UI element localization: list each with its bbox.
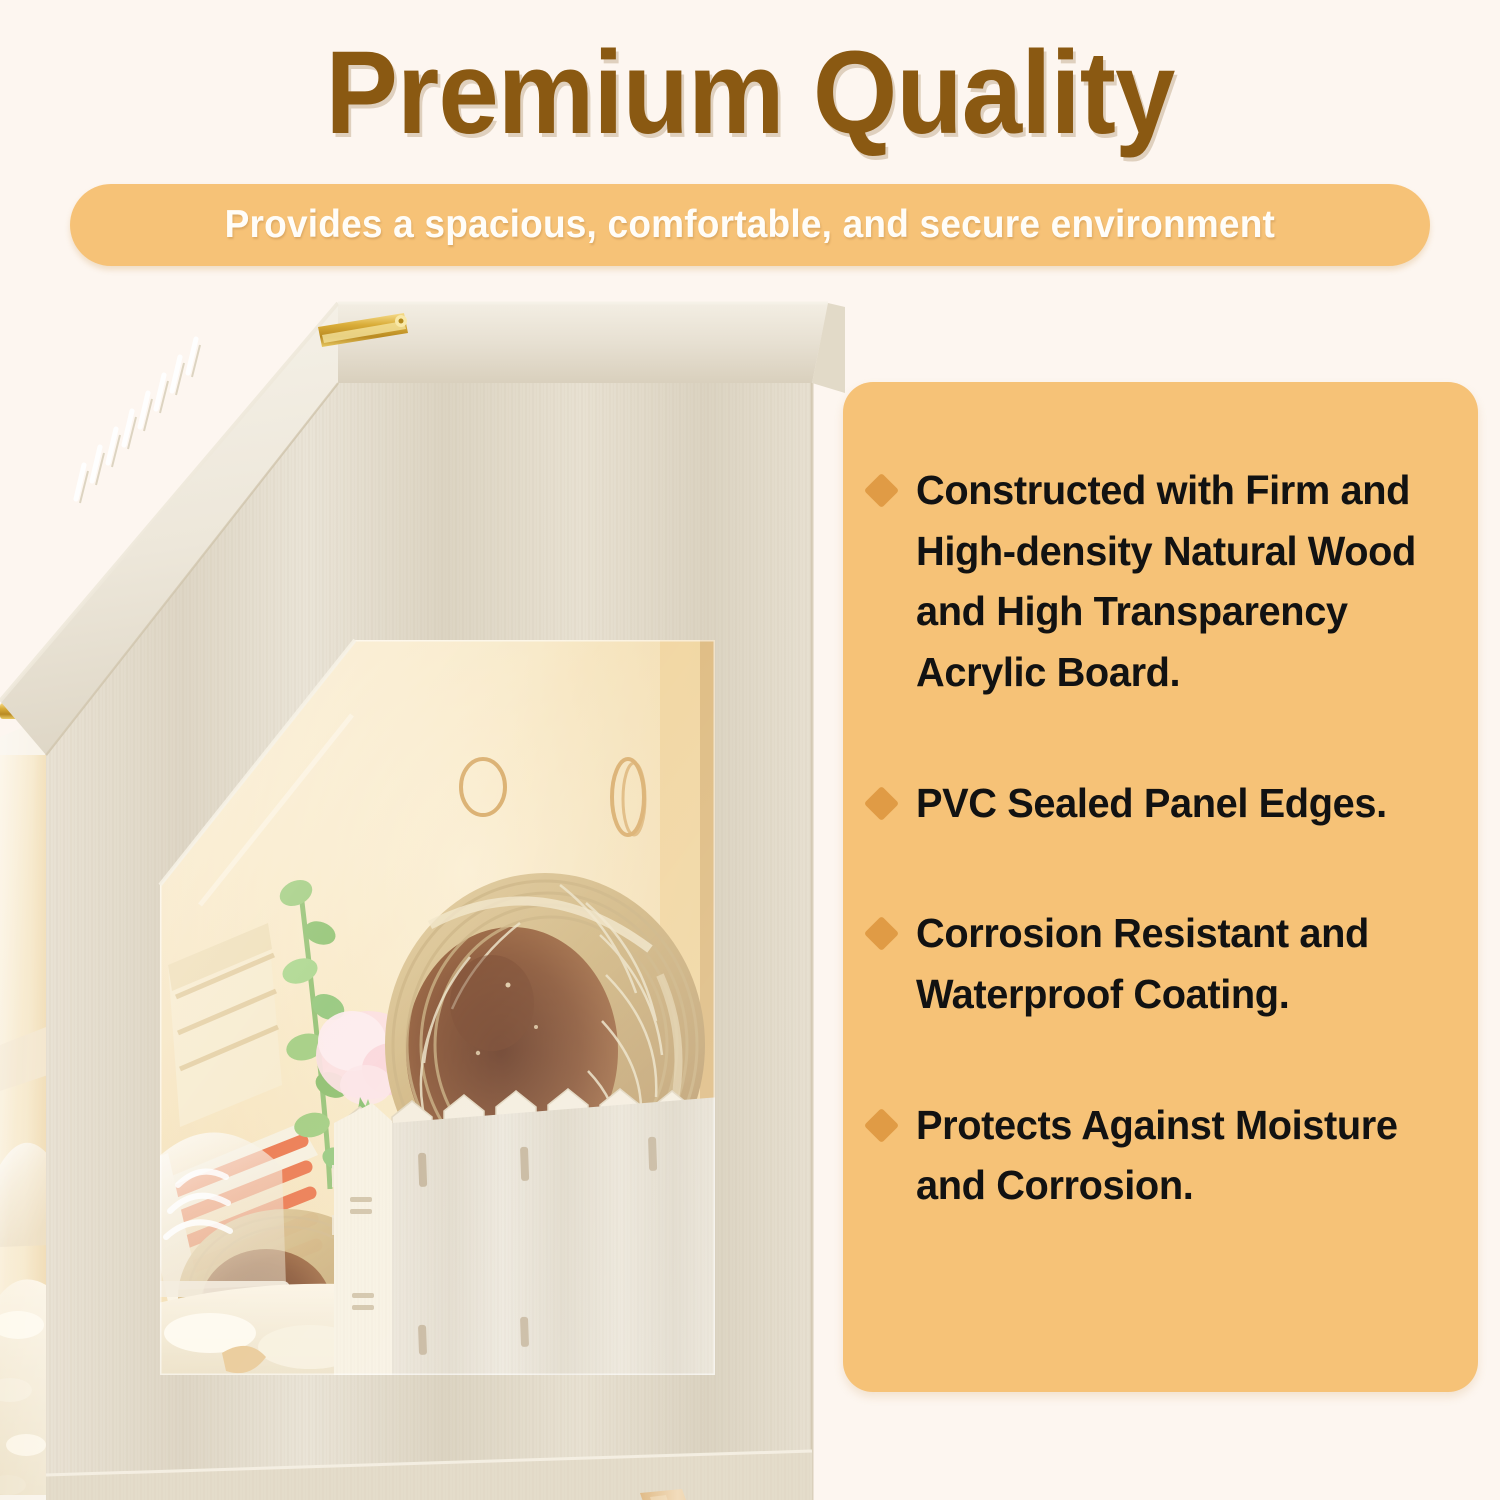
diamond-bullet-icon [864,786,899,821]
diamond-bullet-icon [864,916,899,951]
feature-item: Corrosion Resistant and Waterproof Coati… [869,903,1464,1024]
acrylic-side-panel [0,703,52,1500]
feature-text: Corrosion Resistant and Waterproof Coati… [916,903,1445,1024]
feature-item: PVC Sealed Panel Edges. [869,773,1464,834]
feature-item: Constructed with Firm and High-density N… [869,460,1464,703]
subtitle-text: Provides a spacious, comfortable, and se… [225,203,1275,247]
feature-text: PVC Sealed Panel Edges. [916,773,1387,834]
feature-item: Protects Against Moisture and Corrosion. [869,1095,1464,1216]
features-panel: Constructed with Firm and High-density N… [843,382,1478,1392]
feature-text: Constructed with Firm and High-density N… [916,460,1445,703]
page-title: Premium Quality [60,34,1440,152]
features-list: Constructed with Firm and High-density N… [869,460,1464,1216]
diamond-bullet-icon [864,473,899,508]
feature-text: Protects Against Moisture and Corrosion. [916,1095,1445,1216]
poster-canvas: Premium Quality Provides a spacious, com… [0,0,1500,1500]
product-photo [0,285,845,1500]
subtitle-banner: Provides a spacious, comfortable, and se… [70,184,1430,266]
diamond-bullet-icon [864,1108,899,1143]
